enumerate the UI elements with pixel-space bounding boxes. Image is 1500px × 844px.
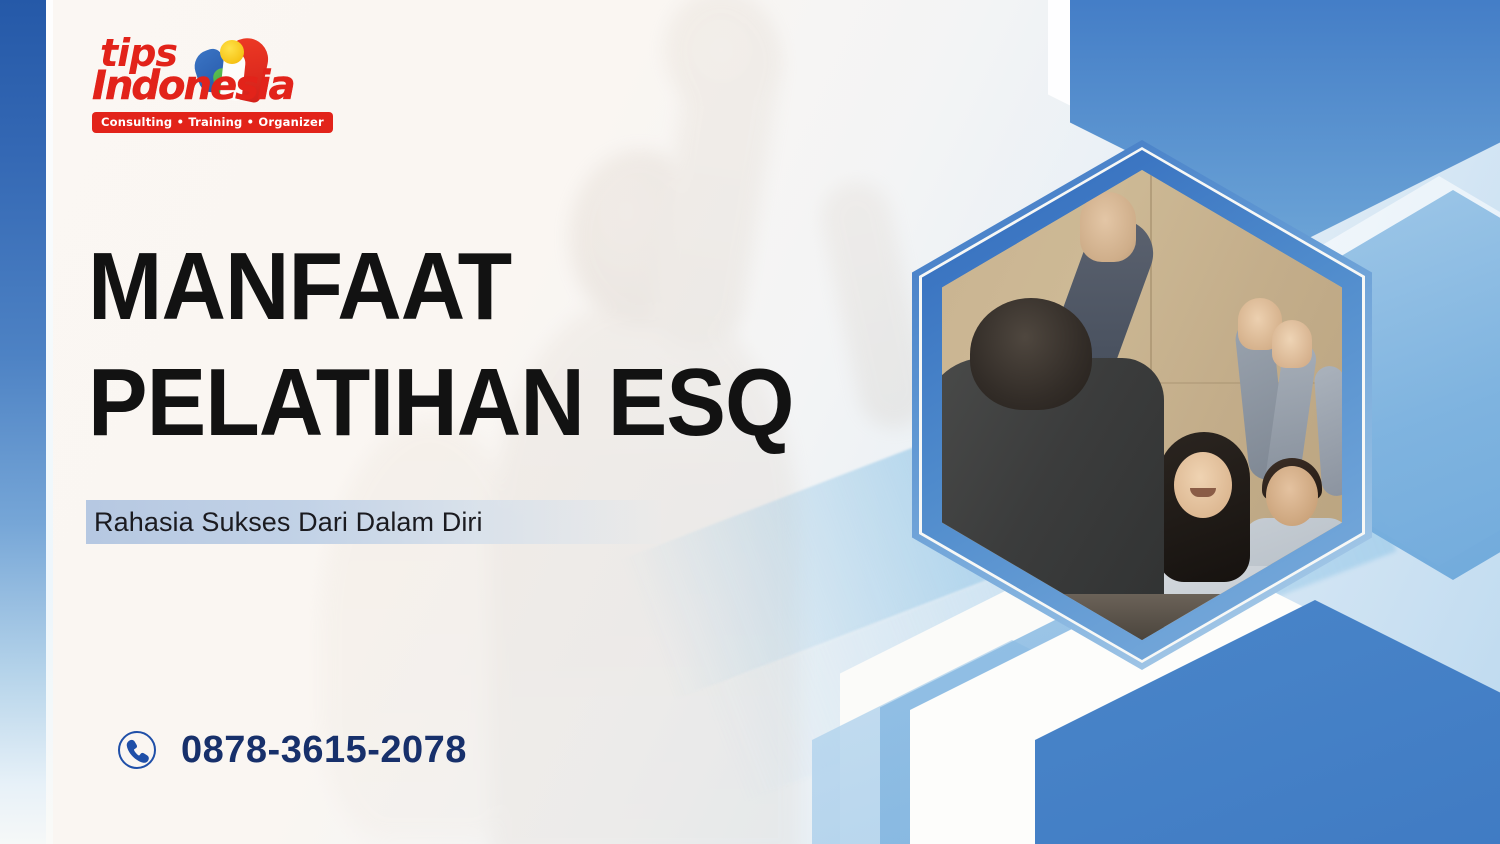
logo-icon-yellow-head (220, 40, 244, 64)
phone-icon (115, 728, 159, 772)
logo-word-indonesia: Indonesia (92, 66, 294, 106)
hexagon-photo-frame (912, 140, 1372, 670)
subtitle-text: Rahasia Sukses Dari Dalam Diri (86, 507, 483, 538)
audience-face-2 (1174, 452, 1232, 518)
left-accent-strip (0, 0, 46, 844)
phone-number: 0878-3615-2078 (181, 729, 467, 772)
contact-row[interactable]: 0878-3615-2078 (115, 728, 467, 772)
presenter-hand (1080, 192, 1136, 262)
headline-line-1: MANFAAT (88, 240, 860, 334)
logo-tagline: Consulting • Training • Organizer (92, 112, 333, 133)
slide-canvas: tips Indonesia Consulting • Training • O… (0, 0, 1500, 844)
subtitle-band: Rahasia Sukses Dari Dalam Diri (86, 500, 661, 544)
headline-line-2: PELATIHAN ESQ (88, 356, 860, 450)
left-accent-strip-edge (46, 0, 53, 844)
audience-head-5 (1266, 466, 1318, 526)
brand-logo[interactable]: tips Indonesia Consulting • Training • O… (92, 36, 278, 136)
presenter-head (970, 298, 1092, 410)
page-title: MANFAAT PELATIHAN ESQ (88, 240, 918, 450)
photo-table (942, 594, 1342, 640)
audience-hand-4 (1272, 320, 1312, 368)
